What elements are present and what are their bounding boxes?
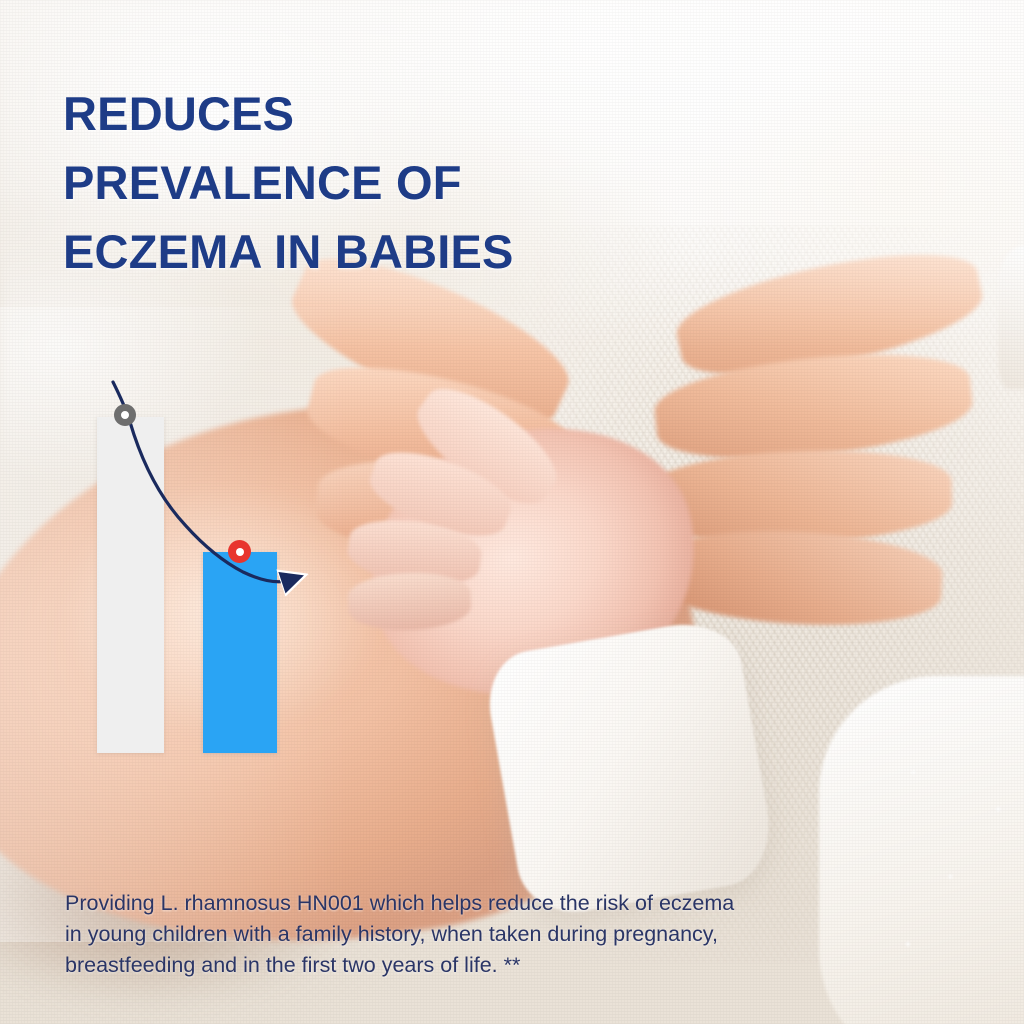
body-line-3: breastfeeding and in the first two years…	[65, 950, 895, 981]
headline-line-3: ECZEMA IN BABIES	[63, 217, 783, 286]
body-line-1: Providing L. rhamnosus HN001 which helps…	[65, 888, 895, 919]
headline-line-2: PREVALENCE OF	[63, 148, 783, 217]
marketing-infographic: REDUCES PREVALENCE OF ECZEMA IN BABIES P…	[0, 0, 1024, 1024]
page-title: REDUCES PREVALENCE OF ECZEMA IN BABIES	[63, 79, 783, 286]
headline-line-1: REDUCES	[63, 79, 783, 148]
body-line-2: in young children with a family history,…	[65, 919, 895, 950]
body-copy: Providing L. rhamnosus HN001 which helps…	[65, 888, 895, 981]
